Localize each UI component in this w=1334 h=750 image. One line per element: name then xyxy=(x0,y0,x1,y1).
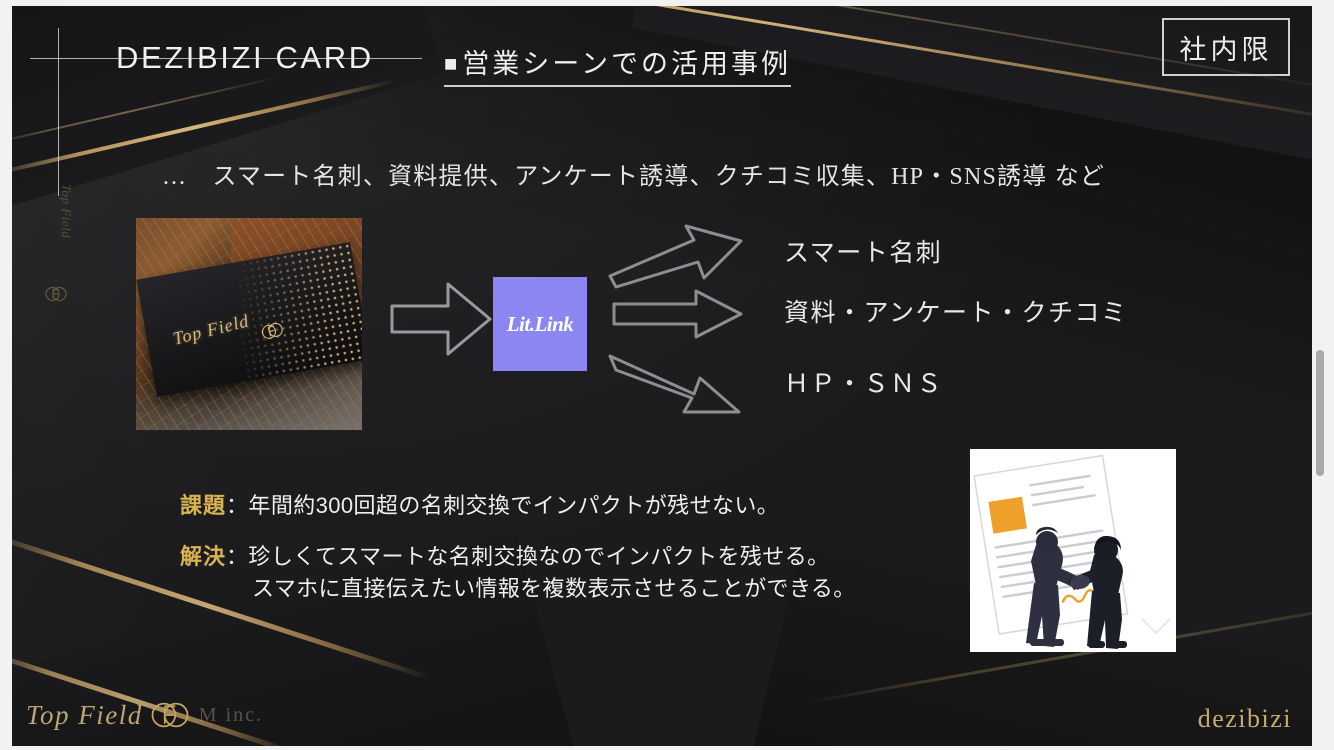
flow-output-label: ＨＰ・ＳＮＳ xyxy=(784,364,943,400)
scrollbar-thumb[interactable] xyxy=(1316,350,1324,476)
side-watermark-text: Top Field xyxy=(58,184,74,284)
problem-text: 年間約300回超の名刺交換でインパクトが残せない。 xyxy=(248,493,779,518)
deck-title: DEZIBIZI CARD xyxy=(116,40,374,76)
flow-arrow-output-2-icon xyxy=(612,289,744,339)
slide-heading: ■営業シーンでの活用事例 xyxy=(444,42,791,87)
solution-label: 解決 xyxy=(180,544,226,569)
heading-text: 営業シーンでの活用事例 xyxy=(462,49,791,79)
litlink-logo-text: Lit.Link xyxy=(507,312,574,337)
presentation-slide: DEZIBIZI CARD ■営業シーンでの活用事例 社内限 … スマート名刺、… xyxy=(12,6,1312,746)
crosshair-vertical-line xyxy=(58,28,59,196)
flow-arrow-to-hub-icon xyxy=(390,274,494,364)
footer-left-brand: Top Field M inc. xyxy=(26,694,263,736)
solution-line: 解決：珍しくてスマートな名刺交換なのでインパクトを残せる。 xyxy=(180,539,830,571)
business-card-photo: Top Field xyxy=(136,218,362,430)
top-field-monogram-icon xyxy=(149,694,191,736)
footer-right-brand: dezibizi xyxy=(1198,704,1292,734)
heading-marker-icon: ■ xyxy=(444,51,460,76)
scrollbar-track[interactable] xyxy=(1316,0,1330,750)
problem-separator: ： xyxy=(226,493,248,518)
flow-arrow-output-1-icon xyxy=(608,224,744,290)
problem-label: 課題 xyxy=(180,493,226,518)
solution-text-line1: 珍しくてスマートな名刺交換なのでインパクトを残せる。 xyxy=(248,544,829,569)
background-facet-top-left xyxy=(12,6,444,225)
subtitle-text: … スマート名刺、資料提供、アンケート誘導、クチコミ収集、HP・SNS誘導 など xyxy=(162,156,1105,191)
top-field-monogram-icon xyxy=(44,282,68,306)
problem-line: 課題：年間約300回超の名刺交換でインパクトが残せない。 xyxy=(180,488,779,520)
solution-separator: ： xyxy=(226,544,248,569)
flow-output-label: スマート名刺 xyxy=(784,233,942,269)
flow-output-label: 資料・アンケート・クチコミ xyxy=(784,293,1128,329)
contract-handshake-graphic xyxy=(970,449,1176,652)
footer-brand-name: Top Field xyxy=(26,700,143,731)
solution-line-continued: スマホに直接伝えたい情報を複数表示させることができる。 xyxy=(252,571,856,603)
litlink-logo-tile: Lit.Link xyxy=(493,277,587,371)
slide-viewer: DEZIBIZI CARD ■営業シーンでの活用事例 社内限 … スマート名刺、… xyxy=(0,0,1334,750)
footer-brand-sub: M inc. xyxy=(199,704,263,727)
flow-arrow-output-3-icon xyxy=(608,350,744,416)
classification-badge: 社内限 xyxy=(1162,18,1290,76)
handshake-illustration xyxy=(970,449,1176,652)
gold-streak-decoration xyxy=(12,76,278,145)
side-watermark: Top Field xyxy=(38,202,78,312)
